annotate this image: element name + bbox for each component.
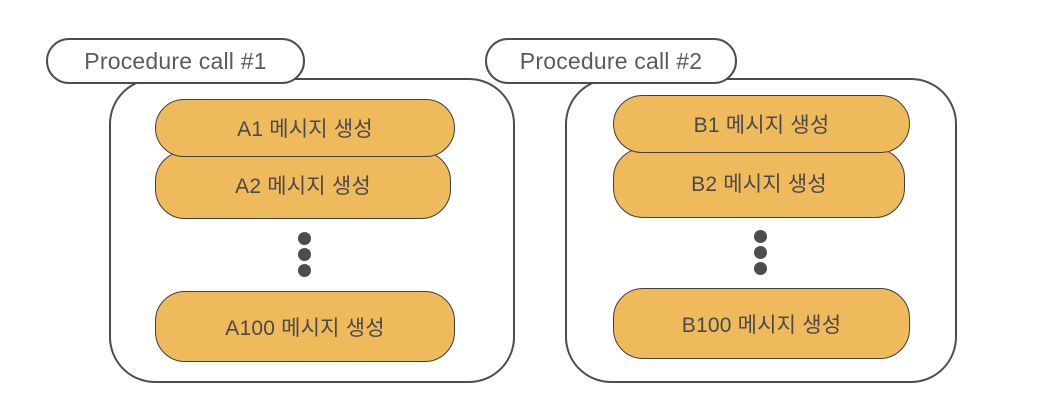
- message-box-b2[interactable]: B2 메시지 생성: [613, 148, 905, 218]
- message-box-a100[interactable]: A100 메시지 생성: [155, 291, 455, 362]
- message-box-b1[interactable]: B1 메시지 생성: [613, 95, 910, 153]
- message-box-b2-label: B2 메시지 생성: [691, 168, 827, 198]
- ellipsis-dot-icon: [754, 230, 767, 243]
- procedure-call-1-label-text: Procedure call #1: [84, 48, 266, 75]
- procedure-call-2-label-text: Procedure call #2: [520, 48, 702, 75]
- ellipsis-dot-icon: [754, 262, 767, 275]
- message-box-a1[interactable]: A1 메시지 생성: [155, 99, 455, 157]
- ellipsis-group-1: [298, 232, 311, 277]
- message-box-a1-label: A1 메시지 생성: [237, 113, 373, 143]
- ellipsis-group-2: [754, 230, 767, 275]
- message-box-a2-label: A2 메시지 생성: [235, 170, 371, 200]
- diagram-canvas: Procedure call #1 A1 메시지 생성 A2 메시지 생성 A1…: [0, 0, 1058, 408]
- procedure-call-2-label: Procedure call #2: [485, 38, 737, 84]
- procedure-call-1-label: Procedure call #1: [46, 38, 305, 84]
- message-box-b1-label: B1 메시지 생성: [694, 109, 830, 139]
- message-box-b100-label: B100 메시지 생성: [682, 309, 842, 339]
- ellipsis-dot-icon: [298, 264, 311, 277]
- message-box-b100[interactable]: B100 메시지 생성: [613, 288, 910, 359]
- ellipsis-dot-icon: [298, 232, 311, 245]
- ellipsis-dot-icon: [298, 248, 311, 261]
- ellipsis-dot-icon: [754, 246, 767, 259]
- message-box-a100-label: A100 메시지 생성: [225, 312, 385, 342]
- message-box-a2[interactable]: A2 메시지 생성: [155, 151, 451, 219]
